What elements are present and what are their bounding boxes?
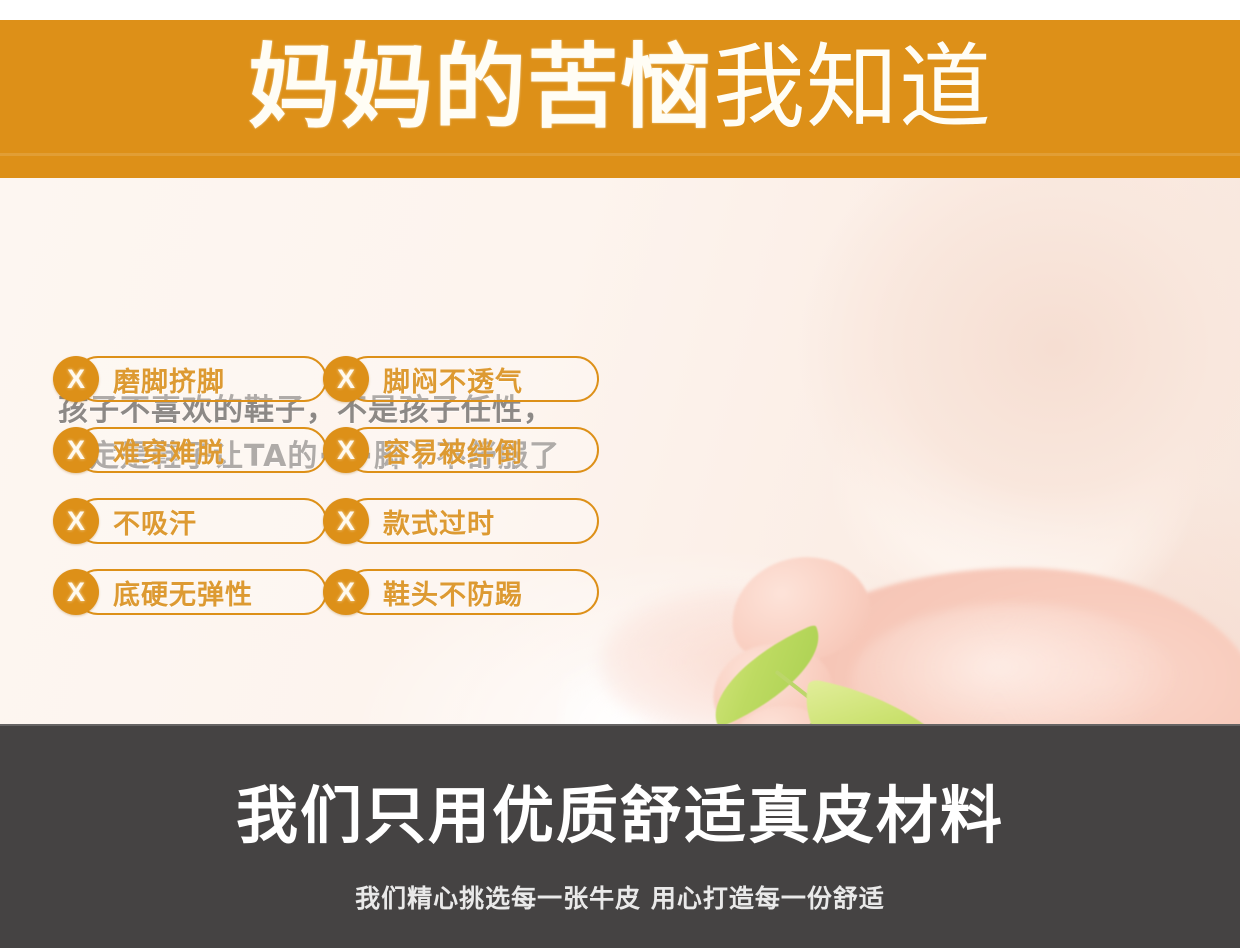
pain-point-label-7: 鞋头不防踢 <box>383 573 523 612</box>
product-detail-page: 妈妈的苦恼我知道 孩子不喜欢的鞋子，不是孩子任性， 一定是鞋子让TA的·小·脚丫… <box>0 0 1240 948</box>
footer-subtitle: 我们精心挑选每一张牛皮 用心打造每一份舒适 <box>0 882 1240 916</box>
cross-icon: X <box>53 569 99 615</box>
cross-icon: X <box>323 356 369 402</box>
pain-point-body-4: 不吸汗 <box>75 498 327 544</box>
pain-point-item-1[interactable]: X 脚闷不透气 <box>323 355 599 403</box>
pain-point-label-3: 容易被绊倒 <box>383 431 523 470</box>
pain-point-item-4[interactable]: X 不吸汗 <box>53 497 327 545</box>
cross-icon: X <box>323 498 369 544</box>
pain-point-item-7[interactable]: X 鞋头不防踢 <box>323 568 599 616</box>
footer-top-hairline <box>0 724 1240 726</box>
pain-point-section: 孩子不喜欢的鞋子，不是孩子任性， 一定是鞋子让TA的·小·脚丫不舒服了 X 磨脚… <box>0 178 1240 724</box>
pain-point-item-6[interactable]: X 底硬无弹性 <box>53 568 327 616</box>
pain-point-label-4: 不吸汗 <box>113 502 197 541</box>
pain-point-body-6: 底硬无弹性 <box>75 569 327 615</box>
cross-icon-glyph: X <box>337 437 355 464</box>
pain-point-body-3: 容易被绊倒 <box>345 427 599 473</box>
top-white-gutter <box>0 0 1240 20</box>
pain-point-list: X 磨脚挤脚 X 脚闷不透气 X 难穿难脱 X 容易被绊倒 X 不吸汗 X <box>0 178 1240 724</box>
material-banner: 我们只用优质舒适真皮材料 我们精心挑选每一张牛皮 用心打造每一份舒适 <box>0 724 1240 948</box>
pain-point-label-0: 磨脚挤脚 <box>113 360 225 399</box>
cross-icon: X <box>53 427 99 473</box>
pain-point-label-5: 款式过时 <box>383 502 495 541</box>
cross-icon-glyph: X <box>67 508 85 535</box>
cross-icon: X <box>323 569 369 615</box>
pain-point-body-0: 磨脚挤脚 <box>75 356 327 402</box>
cross-icon: X <box>323 427 369 473</box>
pain-point-body-2: 难穿难脱 <box>75 427 327 473</box>
cross-icon-glyph: X <box>337 508 355 535</box>
header-title-light: 我知道 <box>713 37 992 139</box>
header-title-heavy: 妈妈的苦恼 <box>248 34 713 141</box>
pain-point-body-5: 款式过时 <box>345 498 599 544</box>
cross-icon: X <box>53 498 99 544</box>
footer-title: 我们只用优质舒适真皮材料 <box>0 780 1240 852</box>
cross-icon-glyph: X <box>67 437 85 464</box>
header-title: 妈妈的苦恼我知道 <box>0 34 1240 169</box>
pain-point-body-7: 鞋头不防踢 <box>345 569 599 615</box>
cross-icon-glyph: X <box>67 366 85 393</box>
cross-icon-glyph: X <box>337 366 355 393</box>
pain-point-item-3[interactable]: X 容易被绊倒 <box>323 426 599 474</box>
pain-point-label-2: 难穿难脱 <box>113 431 225 470</box>
pain-point-item-5[interactable]: X 款式过时 <box>323 497 599 545</box>
pain-point-body-1: 脚闷不透气 <box>345 356 599 402</box>
cross-icon: X <box>53 356 99 402</box>
pain-point-label-6: 底硬无弹性 <box>113 573 253 612</box>
cross-icon-glyph: X <box>337 579 355 606</box>
pain-point-item-2[interactable]: X 难穿难脱 <box>53 426 327 474</box>
pain-point-item-0[interactable]: X 磨脚挤脚 <box>53 355 327 403</box>
cross-icon-glyph: X <box>67 579 85 606</box>
pain-point-label-1: 脚闷不透气 <box>383 360 523 399</box>
header-banner: 妈妈的苦恼我知道 <box>0 20 1240 178</box>
